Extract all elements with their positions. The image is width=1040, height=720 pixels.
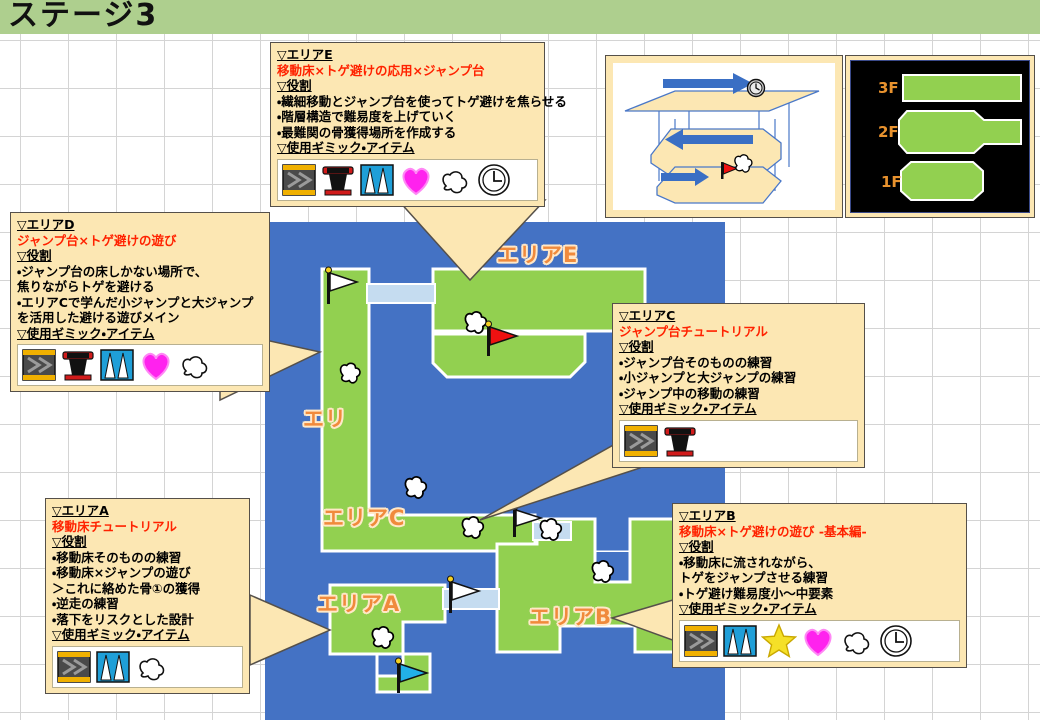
callout-area-b[interactable]: ▽エリアB 移動床×トゲ避けの遊び -基本編- ▽役割 ・移動床に流されながら、…: [672, 503, 967, 668]
callout-e-role-1: ・階層構造で難易度を上げていく: [277, 109, 538, 125]
callout-c-role-1: ・小ジャンプと大ジャンプの練習: [619, 370, 858, 386]
conveyor-icon: [21, 347, 57, 383]
callout-e-heading: ▽エリアE: [277, 47, 538, 63]
callout-tail-a: [250, 595, 330, 665]
floor-label-1f: 1F: [881, 173, 902, 191]
bone-icon: [839, 623, 875, 659]
callout-d-role-3: を活用した避ける遊びメイン: [17, 310, 263, 326]
jumppad-icon: [320, 162, 356, 198]
callout-a-role-3: ・逆走の練習: [52, 596, 243, 612]
isometric-diagram-panel: [605, 55, 843, 218]
heart-icon: [138, 347, 174, 383]
callout-a-role-2: ＞これに絡めた骨①の獲得: [52, 581, 243, 597]
callout-area-d[interactable]: ▽エリアD ジャンプ台×トゲ避けの遊び ▽役割 ・ジャンプ台の床しかない場所で、…: [10, 212, 270, 392]
heart-icon: [398, 162, 434, 198]
callout-c-role-0: ・ジャンプ台そのものの練習: [619, 355, 858, 371]
callout-b-heading: ▽エリアB: [679, 508, 960, 524]
floor-2f-shape: [899, 111, 1021, 153]
callout-d-role-heading: ▽役割: [17, 248, 263, 264]
callout-d-subtitle: ジャンプ台×トゲ避けの遊び: [17, 233, 263, 249]
floor-3f-shape: [903, 75, 1021, 101]
callout-e-role-0: ・繊細移動とジャンプ台を使ってトゲ避けを焦らせる: [277, 94, 538, 110]
callout-e-role-2: ・最難関の骨獲得場所を作成する: [277, 125, 538, 141]
callout-a-iconbar: [52, 646, 243, 688]
conveyor-icon: [623, 423, 659, 459]
floor-label-2f: 2F: [878, 123, 899, 141]
callout-area-a[interactable]: ▽エリアA 移動床チュートリアル ▽役割 ・移動床そのものの練習 ・移動床×ジャ…: [45, 498, 250, 694]
callout-c-role-heading: ▽役割: [619, 339, 858, 355]
callout-c-iconbar: [619, 420, 858, 462]
bone-icon: [134, 649, 170, 685]
stage-design-document: ステージ3: [0, 0, 1040, 720]
callout-tail-e: [398, 200, 545, 280]
callout-e-iconbar: [277, 159, 538, 201]
callout-c-subtitle: ジャンプ台チュートリアル: [619, 324, 858, 340]
callout-d-role-1: 焦りながらトゲを避ける: [17, 279, 263, 295]
callout-b-subtitle: 移動床×トゲ避けの遊び -基本編-: [679, 524, 960, 540]
callout-a-role-4: ・落下をリスクとした設計: [52, 612, 243, 628]
clock-icon: [878, 623, 914, 659]
heart-icon: [800, 623, 836, 659]
callout-e-subtitle: 移動床×トゲ避けの応用×ジャンプ台: [277, 63, 538, 79]
conveyor-icon: [683, 623, 719, 659]
callout-a-gimmick-heading: ▽使用ギミック・アイテム: [52, 627, 243, 643]
floor-label-3f: 3F: [878, 79, 899, 97]
bone-icon: [177, 347, 213, 383]
callout-a-subtitle: 移動床チュートリアル: [52, 519, 243, 535]
callout-e-role-heading: ▽役割: [277, 78, 538, 94]
floor-overview-panel: 3F 2F 1F: [845, 55, 1035, 218]
callout-c-role-2: ・ジャンプ中の移動の練習: [619, 386, 858, 402]
clock-icon: [476, 162, 512, 198]
callout-b-role-heading: ▽役割: [679, 539, 960, 555]
spikes-icon: [359, 162, 395, 198]
callout-a-role-1: ・移動床×ジャンプの遊び: [52, 565, 243, 581]
callout-d-role-2: ・エリアCで学んだ小ジャンプと大ジャンプ: [17, 295, 263, 311]
callout-d-iconbar: [17, 344, 263, 386]
callout-e-gimmick-heading: ▽使用ギミック・アイテム: [277, 140, 538, 156]
jumppad-icon: [662, 423, 698, 459]
isometric-diagram: [613, 63, 837, 212]
star-icon: [761, 623, 797, 659]
callout-b-iconbar: [679, 620, 960, 662]
callout-d-role-0: ・ジャンプ台の床しかない場所で、: [17, 264, 263, 280]
callout-a-heading: ▽エリアA: [52, 503, 243, 519]
callout-b-role-1: トゲをジャンプさせる練習: [679, 570, 960, 586]
callout-a-role-0: ・移動床そのものの練習: [52, 550, 243, 566]
callout-d-gimmick-heading: ▽使用ギミック・アイテム: [17, 326, 263, 342]
floor-1f-shape: [901, 162, 983, 200]
callout-b-role-2: ・トゲ避け難易度小～中要素: [679, 586, 960, 602]
callout-d-heading: ▽エリアD: [17, 217, 263, 233]
callout-area-c[interactable]: ▽エリアC ジャンプ台チュートリアル ▽役割 ・ジャンプ台そのものの練習 ・小ジ…: [612, 303, 865, 468]
clock-icon: [748, 80, 765, 97]
spikes-icon: [722, 623, 758, 659]
callout-c-heading: ▽エリアC: [619, 308, 858, 324]
conveyor-icon: [56, 649, 92, 685]
callout-c-gimmick-heading: ▽使用ギミック・アイテム: [619, 401, 858, 417]
spikes-icon: [99, 347, 135, 383]
jumppad-icon: [60, 347, 96, 383]
callout-a-role-heading: ▽役割: [52, 534, 243, 550]
bone-icon: [437, 162, 473, 198]
callout-area-e[interactable]: ▽エリアE 移動床×トゲ避けの応用×ジャンプ台 ▽役割 ・繊細移動とジャンプ台を…: [270, 42, 545, 207]
callout-b-gimmick-heading: ▽使用ギミック・アイテム: [679, 601, 960, 617]
callout-b-role-0: ・移動床に流されながら、: [679, 555, 960, 571]
conveyor-icon: [281, 162, 317, 198]
spikes-icon: [95, 649, 131, 685]
